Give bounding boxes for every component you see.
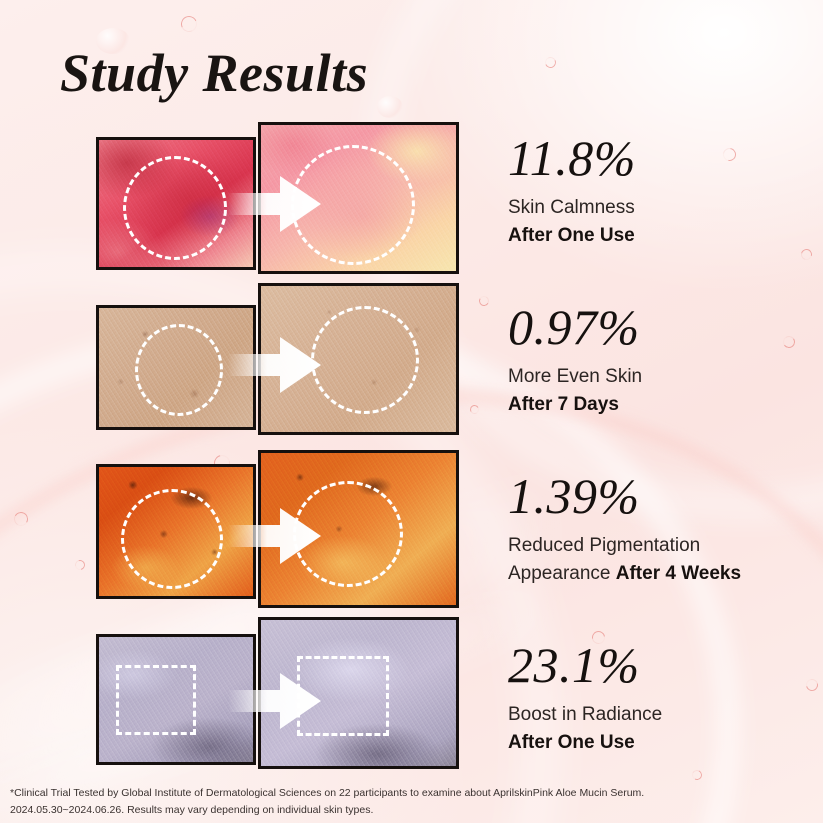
before-image-panel (96, 464, 256, 599)
stat-block: 1.39% Reduced Pigmentation Appearance Af… (508, 470, 741, 587)
after-image-panel (258, 617, 459, 769)
skin-photo-before (99, 637, 253, 762)
stat-block: 0.97% More Even Skin After 7 Days (508, 301, 642, 418)
skin-photo-after (261, 620, 456, 766)
stat-description: More Even Skin After 7 Days (508, 363, 642, 418)
before-image-panel (96, 137, 256, 270)
stat-benefit-line-2: Appearance (508, 563, 610, 584)
result-row: 0.97% More Even Skin After 7 Days (0, 283, 823, 443)
stat-value: 23.1% (508, 639, 662, 692)
page-title: Study Results (60, 42, 368, 104)
stat-timeframe: After 7 Days (508, 394, 619, 415)
stat-timeframe: After One Use (508, 225, 635, 246)
result-row: 11.8% Skin Calmness After One Use (0, 118, 823, 278)
skin-photo-after (261, 453, 456, 605)
after-image-panel (258, 283, 459, 435)
after-image-panel (258, 122, 459, 274)
skin-photo-before (99, 308, 253, 427)
stat-benefit: Boost in Radiance (508, 704, 662, 725)
stat-description: Reduced Pigmentation Appearance After 4 … (508, 532, 741, 587)
stat-timeframe: After 4 Weeks (616, 563, 741, 584)
footnote: *Clinical Trial Tested by Global Institu… (10, 785, 810, 819)
before-image-panel (96, 305, 256, 430)
stat-description: Boost in Radiance After One Use (508, 701, 662, 756)
stat-value: 1.39% (508, 470, 741, 523)
skin-photo-before (99, 467, 253, 596)
droplet-icon (179, 14, 200, 35)
droplet-icon (543, 55, 557, 69)
stat-benefit: More Even Skin (508, 366, 642, 387)
droplet-icon (377, 96, 403, 118)
stat-timeframe: After One Use (508, 732, 635, 753)
skin-photo-before (99, 140, 253, 267)
stat-block: 11.8% Skin Calmness After One Use (508, 132, 636, 249)
result-row: 23.1% Boost in Radiance After One Use (0, 617, 823, 779)
stat-description: Skin Calmness After One Use (508, 194, 636, 249)
stat-benefit: Skin Calmness (508, 197, 635, 218)
skin-photo-after (261, 286, 456, 432)
before-image-panel (96, 634, 256, 765)
stat-value: 11.8% (508, 132, 636, 185)
after-image-panel (258, 450, 459, 608)
footnote-line-2: 2024.05.30~2024.06.26. Results may vary … (10, 802, 810, 819)
skin-photo-after (261, 125, 456, 271)
result-row: 1.39% Reduced Pigmentation Appearance Af… (0, 450, 823, 618)
stat-value: 0.97% (508, 301, 642, 354)
footnote-line-1: *Clinical Trial Tested by Global Institu… (10, 785, 810, 802)
stat-benefit-line-1: Reduced Pigmentation (508, 535, 700, 556)
stat-block: 23.1% Boost in Radiance After One Use (508, 639, 662, 756)
